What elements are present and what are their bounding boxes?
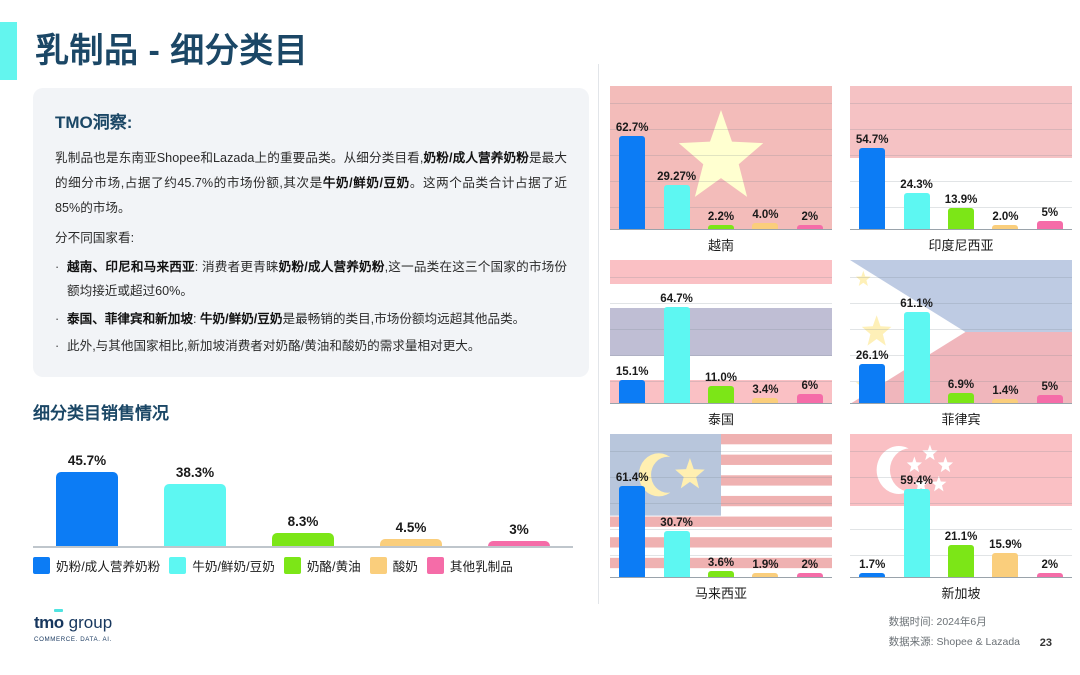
country-bar[interactable] [859,364,885,403]
bullet-text: 越南、印尼和马来西亚: 消费者更青睐奶粉/成人营养奶粉,这一品类在这三个国家的市… [67,255,567,304]
bullet-text: 此外,与其他国家相比,新加坡消费者对奶酪/黄油和酸奶的需求量相对更大。 [67,334,567,359]
bullet-marker: · [55,255,67,304]
main-bar[interactable] [272,533,334,547]
country-bar[interactable] [619,380,645,402]
country-bar-value-label: 1.7% [859,559,885,571]
legend-swatch-icon [284,557,301,574]
logo-row: tmo group [34,614,112,631]
country-bar-value-label: 3.4% [752,384,778,396]
country-chart-axis [850,403,1072,404]
legend-label: 奶酪/黄油 [307,556,361,575]
country-chart-bars: 61.4%30.7%3.6%1.9%2% [610,438,832,577]
country-bar-value-label: 62.7% [616,122,649,134]
country-bar[interactable] [904,489,930,577]
country-chart-singapore: 1.7%59.4%21.1%15.9%2%新加坡 [850,434,1072,602]
main-bar-slot: 8.3% [249,440,357,546]
country-bar-slot: 59.4% [894,438,938,577]
country-bar-slot: 64.7% [654,264,698,403]
country-chart-plot: 15.1%64.7%11.0%3.4%6% [610,260,832,404]
country-bar-value-label: 2.0% [992,211,1018,223]
country-bar[interactable] [904,312,930,403]
country-bar-slot: 61.4% [610,438,654,577]
country-bar-slot: 21.1% [939,438,983,577]
country-bar[interactable] [1037,395,1063,402]
main-bar[interactable] [164,484,226,547]
bullet-plain-2: 是最畅销的类目,市场份额均远超其他品类。 [283,312,526,326]
page-number: 23 [1040,637,1052,649]
tmo-group-logo: tmo group COMMERCE. DATA. AI. [34,614,112,643]
country-chart-bars: 15.1%64.7%11.0%3.4%6% [610,264,832,403]
insight-paragraph: 乳制品也是东南亚Shopee和Lazada上的重要品类。从细分类目看,奶粉/成人… [55,146,567,222]
country-bar[interactable] [948,393,974,403]
bullet-bold-1: 越南、印尼和马来西亚 [67,260,195,274]
legend-swatch-icon [169,557,186,574]
main-bar-value-label: 38.3% [176,465,214,480]
country-bar[interactable] [664,185,690,228]
main-chart-axis [33,546,573,548]
country-bar-value-label: 1.9% [752,559,778,571]
country-bar[interactable] [948,208,974,229]
country-bar[interactable] [664,307,690,403]
country-bar-value-label: 21.1% [945,531,978,543]
country-bar[interactable] [948,545,974,576]
country-name-label: 新加坡 [850,578,1072,602]
country-bar-value-label: 15.9% [989,539,1022,551]
country-name-label: 泰国 [610,404,832,428]
country-bar-value-label: 54.7% [856,134,889,146]
country-bar[interactable] [904,193,930,229]
insight-p1a: 乳制品也是东南亚Shopee和Lazada上的重要品类。从细分类目看, [55,151,423,165]
country-bar[interactable] [619,136,645,229]
country-chart-philippines: 26.1%61.1%6.9%1.4%5%菲律宾 [850,260,1072,428]
main-bar-value-label: 4.5% [396,520,427,535]
legend-item[interactable]: 奶粉/成人营养奶粉 [33,556,160,575]
country-bar-value-label: 64.7% [660,293,693,305]
insight-title: TMO洞察: [55,108,567,133]
country-bar-slot: 26.1% [850,264,894,403]
bullet-marker: · [55,307,67,332]
chart-legend: 奶粉/成人营养奶粉牛奶/鲜奶/豆奶奶酪/黄油酸奶其他乳制品 [33,556,589,575]
bullet-bold-1: 泰国、菲律宾和新加坡 [67,312,193,326]
main-bar-value-label: 3% [509,522,529,537]
country-bar-value-label: 61.4% [616,472,649,484]
logo-wordmark-tmo: tmo [34,614,64,631]
bullet-bold-2: 奶粉/成人营养奶粉 [279,260,385,274]
country-name-label: 印度尼西亚 [850,230,1072,254]
bullet-plain-1: : [193,312,200,326]
main-bar-slot: 45.7% [33,440,141,546]
country-bar-value-label: 59.4% [900,475,933,487]
data-source-row: 数据来源: Shopee & Lazada [889,632,1020,652]
country-bar-value-label: 4.0% [752,209,778,221]
legend-item[interactable]: 牛奶/鲜奶/豆奶 [169,556,275,575]
country-chart-bars: 54.7%24.3%13.9%2.0%5% [850,90,1072,229]
country-bar-slot: 1.9% [743,438,787,577]
main-chart: 细分类目销售情况 45.7%38.3%8.3%4.5%3% 奶粉/成人营养奶粉牛… [33,399,589,575]
tmo-insight-panel: TMO洞察: 乳制品也是东南亚Shopee和Lazada上的重要品类。从细分类目… [33,88,589,377]
country-bar-value-label: 61.1% [900,298,933,310]
country-name-label: 越南 [610,230,832,254]
country-bar[interactable] [619,486,645,577]
bullet-plain-1: 此外,与其他国家相比,新加坡消费者对奶酪/黄油和酸奶的需求量相对更大。 [67,339,481,353]
main-bar-value-label: 45.7% [68,453,106,468]
country-chart-axis [610,403,832,404]
legend-swatch-icon [33,557,50,574]
country-bar-slot: 62.7% [610,90,654,229]
bullet-plain-1: : 消费者更青睐 [195,260,279,274]
country-bar-value-label: 30.7% [660,517,693,529]
country-chart-bars: 26.1%61.1%6.9%1.4%5% [850,264,1072,403]
insight-subhead: 分不同国家看: [55,226,567,251]
country-chart-thailand: 15.1%64.7%11.0%3.4%6%泰国 [610,260,832,428]
country-bar[interactable] [797,394,823,403]
legend-item[interactable]: 其他乳制品 [427,556,513,575]
country-bar-slot: 1.7% [850,438,894,577]
country-bar-value-label: 3.6% [708,557,734,569]
country-chart-bars: 62.7%29.27%2.2%4.0%2% [610,90,832,229]
country-bar-slot: 29.27% [654,90,698,229]
data-time-row: 数据时间: 2024年6月 [889,612,1020,632]
country-bar-slot: 2% [788,90,832,229]
country-bar-slot: 13.9% [939,90,983,229]
country-bar-slot: 61.1% [894,264,938,403]
country-bar-value-label: 29.27% [657,171,696,183]
country-bar-slot: 54.7% [850,90,894,229]
legend-swatch-icon [427,557,444,574]
list-item: · 泰国、菲律宾和新加坡: 牛奶/鲜奶/豆奶是最畅销的类目,市场份额均远超其他品… [55,307,567,332]
bullet-text: 泰国、菲律宾和新加坡: 牛奶/鲜奶/豆奶是最畅销的类目,市场份额均远超其他品类。 [67,307,567,332]
country-bar-value-label: 2% [802,559,819,571]
country-bar-value-label: 2% [1042,559,1059,571]
country-bar-slot: 6.9% [939,264,983,403]
footer-metadata: 数据时间: 2024年6月 数据来源: Shopee & Lazada [889,612,1020,653]
country-bar-slot: 2% [788,438,832,577]
country-bar-slot: 15.9% [983,438,1027,577]
country-bar-slot: 1.4% [983,264,1027,403]
country-bar-slot: 4.0% [743,90,787,229]
main-bar[interactable] [380,539,442,546]
country-chart-plot: 61.4%30.7%3.6%1.9%2% [610,434,832,578]
country-chart-axis [850,229,1072,230]
country-chart-axis [610,229,832,230]
country-name-label: 菲律宾 [850,404,1072,428]
bullet-bold-2: 牛奶/鲜奶/豆奶 [200,312,283,326]
page-title: 乳制品 - 细分类目 [35,34,308,68]
column-divider [598,64,599,604]
main-chart-bars: 45.7%38.3%8.3%4.5%3% [33,440,573,546]
country-bar-slot: 2.2% [699,90,743,229]
country-bar[interactable] [708,386,734,402]
country-bar-value-label: 15.1% [616,366,649,378]
country-chart-plot: 1.7%59.4%21.1%15.9%2% [850,434,1072,578]
country-chart-indonesia: 54.7%24.3%13.9%2.0%5%印度尼西亚 [850,86,1072,254]
insight-p1b: 奶粉/成人营养奶粉 [423,151,529,165]
country-bar-slot: 3.4% [743,264,787,403]
country-bar-slot: 6% [788,264,832,403]
country-bar-slot: 2.0% [983,90,1027,229]
country-chart-axis [610,577,832,578]
country-chart-grid: 62.7%29.27%2.2%4.0%2%越南54.7%24.3%13.9%2.… [610,86,1072,602]
slide-root: 乳制品 - 细分类目 TMO洞察: 乳制品也是东南亚Shopee和Lazada上… [0,0,1080,675]
legend-label: 酸奶 [393,556,418,575]
main-bar-slot: 4.5% [357,440,465,546]
list-item: · 此外,与其他国家相比,新加坡消费者对奶酪/黄油和酸奶的需求量相对更大。 [55,334,567,359]
country-bar-value-label: 5% [1042,381,1059,393]
legend-item[interactable]: 奶酪/黄油 [284,556,361,575]
country-bar-value-label: 2% [802,211,819,223]
country-bar-value-label: 6% [802,380,819,392]
country-bar-value-label: 2.2% [708,211,734,223]
country-bar-slot: 5% [1028,264,1072,403]
country-bar-value-label: 6.9% [948,379,974,391]
country-bar-slot: 2% [1028,438,1072,577]
main-bar-value-label: 8.3% [288,514,319,529]
country-bar-slot: 5% [1028,90,1072,229]
country-name-label: 马来西亚 [610,578,832,602]
country-bar-slot: 24.3% [894,90,938,229]
logo-accent-bar-icon [54,609,63,612]
main-bar-slot: 38.3% [141,440,249,546]
country-bar-slot: 3.6% [699,438,743,577]
insight-p1d: 牛奶/鲜奶/豆奶 [323,176,410,190]
main-bar[interactable] [56,472,118,547]
logo-tmo-text: tmo [34,613,64,632]
logo-tagline: COMMERCE. DATA. AI. [34,636,112,643]
country-bar-value-label: 11.0% [705,372,737,384]
main-chart-heading: 细分类目销售情况 [33,399,589,424]
legend-item[interactable]: 酸奶 [370,556,418,575]
country-bar-slot: 11.0% [699,264,743,403]
country-chart-plot: 54.7%24.3%13.9%2.0%5% [850,86,1072,230]
legend-label: 其他乳制品 [450,556,513,575]
country-chart-bars: 1.7%59.4%21.1%15.9%2% [850,438,1072,577]
country-bar-slot: 30.7% [654,438,698,577]
slide-header: 乳制品 - 细分类目 [0,22,308,80]
bullet-marker: · [55,334,67,359]
country-bar-value-label: 1.4% [992,385,1018,397]
accent-bar [0,22,17,80]
country-bar-slot: 15.1% [610,264,654,403]
country-chart-plot: 62.7%29.27%2.2%4.0%2% [610,86,832,230]
main-bar-slot: 3% [465,440,573,546]
country-bar[interactable] [992,553,1018,577]
country-bar-value-label: 5% [1042,207,1059,219]
insight-bullet-list: · 越南、印尼和马来西亚: 消费者更青睐奶粉/成人营养奶粉,这一品类在这三个国家… [55,255,567,359]
main-chart-plot: 45.7%38.3%8.3%4.5%3% [33,440,573,548]
legend-label: 奶粉/成人营养奶粉 [56,556,160,575]
list-item: · 越南、印尼和马来西亚: 消费者更青睐奶粉/成人营养奶粉,这一品类在这三个国家… [55,255,567,304]
country-chart-vietnam: 62.7%29.27%2.2%4.0%2%越南 [610,86,832,254]
country-chart-plot: 26.1%61.1%6.9%1.4%5% [850,260,1072,404]
country-bar-value-label: 24.3% [900,179,933,191]
country-bar-value-label: 26.1% [856,350,889,362]
legend-label: 牛奶/鲜奶/豆奶 [192,556,275,575]
legend-swatch-icon [370,557,387,574]
country-bar-value-label: 13.9% [945,194,978,206]
country-bar[interactable] [1037,221,1063,228]
left-column: TMO洞察: 乳制品也是东南亚Shopee和Lazada上的重要品类。从细分类目… [33,88,589,575]
country-bar[interactable] [859,148,885,229]
logo-wordmark-group: group [69,614,112,631]
country-chart-axis [850,577,1072,578]
country-chart-malaysia: 61.4%30.7%3.6%1.9%2%马来西亚 [610,434,832,602]
country-bar[interactable] [664,531,690,577]
